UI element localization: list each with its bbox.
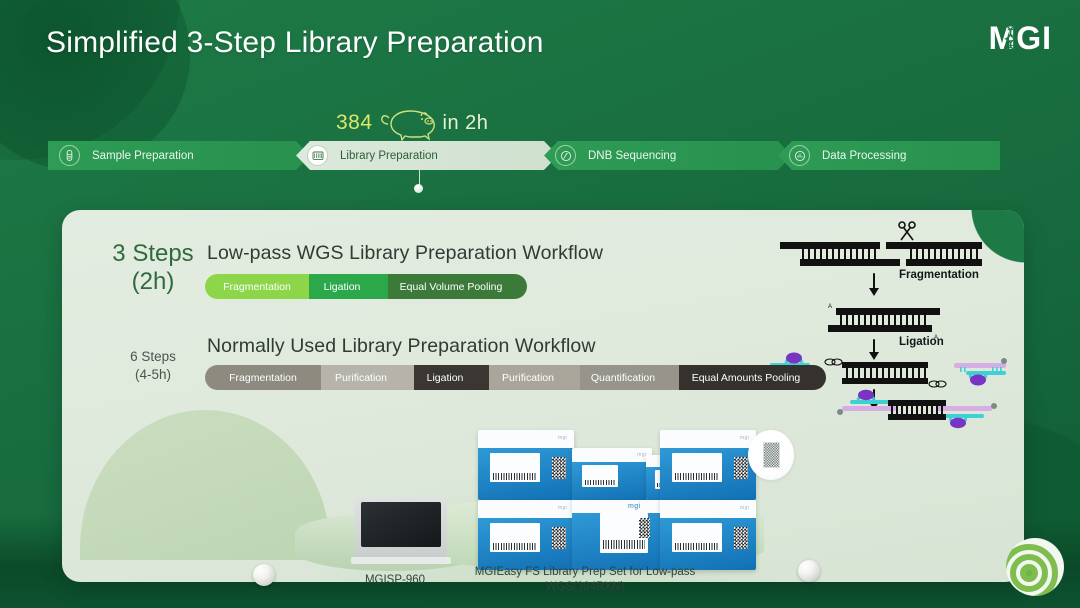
workflow-pill-label: Ligation xyxy=(324,281,361,293)
workflow-pill[interactable]: Ligation xyxy=(401,365,489,390)
fast-workflow-title: Low-pass WGS Library Preparation Workflo… xyxy=(207,242,603,265)
mgi-globe-decoration xyxy=(1002,534,1068,600)
down-arrow-icon-2 xyxy=(869,340,879,360)
normal-workflow-title: Normally Used Library Preparation Workfl… xyxy=(207,335,596,358)
workflow-pill[interactable]: Fragmentation xyxy=(205,365,321,390)
time-label: in 2h xyxy=(443,112,489,135)
sidebar-item-sample-preparation[interactable]: Sample Preparation xyxy=(48,141,310,170)
sidebar-item-data-processing[interactable]: Data Processing xyxy=(778,141,1000,170)
down-arrow-icon xyxy=(869,274,879,296)
diagram-label-fragmentation: Fragmentation xyxy=(899,269,979,281)
workflow-pill-label: Fragmentation xyxy=(223,281,291,293)
workflow-pill[interactable]: Quantification xyxy=(567,365,679,390)
instrument-icon xyxy=(355,497,447,559)
reagent-kit-box: mgi xyxy=(660,500,756,570)
sidebar-item-dnb-sequencing[interactable]: DNB Sequencing xyxy=(544,141,792,170)
workflow-pill[interactable]: Fragmentation xyxy=(205,274,309,299)
reagent-kit-box: mgi xyxy=(572,500,672,570)
fast-steps-count: 3 Steps (2h) xyxy=(89,240,217,297)
diagram-label-ligation: Ligation xyxy=(899,336,944,348)
workflow-pill-label: Equal Volume Pooling xyxy=(400,281,503,293)
fast-steps-duration: (2h) xyxy=(89,268,217,296)
microplate-icon xyxy=(307,145,328,166)
sample-count: 384 xyxy=(336,111,373,135)
workflow-pill-label: Purification xyxy=(502,372,554,384)
workflow-pill[interactable]: Purification xyxy=(476,365,580,390)
workflow-pill-label: Purification xyxy=(335,372,387,384)
step-label: Data Processing xyxy=(822,150,906,162)
sequencer-icon xyxy=(555,145,576,166)
step-label: DNB Sequencing xyxy=(588,150,676,162)
pearl-decoration-left xyxy=(253,564,275,586)
workflow-step-bar: Sample Preparation Library Preparation D… xyxy=(48,141,1014,170)
step-label: Sample Preparation xyxy=(92,150,194,162)
product-caption-kit: MGIEasy FS Library Prep Set for Low-pass… xyxy=(440,565,730,595)
reagent-kit-box: mgi xyxy=(572,448,652,500)
flowcell-chip-icon xyxy=(763,442,780,468)
workflow-pill[interactable]: Ligation xyxy=(296,274,388,299)
sidebar-item-library-preparation[interactable]: Library Preparation xyxy=(296,141,558,170)
flowcell-chip-badge xyxy=(748,430,794,480)
workflow-pill-label: Quantification xyxy=(591,372,655,384)
reagent-kit-box: mgi xyxy=(660,430,756,500)
scissors-icon xyxy=(899,222,915,240)
step-label: Library Preparation xyxy=(340,150,438,162)
page-title: Simplified 3-Step Library Preparation xyxy=(46,26,544,60)
fast-steps-count-value: 3 Steps xyxy=(89,240,217,268)
normal-steps-count: 6 Steps (4-5h) xyxy=(89,348,217,383)
workflow-pill-label: Ligation xyxy=(427,372,464,384)
product-hill-decoration xyxy=(80,410,330,560)
normal-steps-duration: (4-5h) xyxy=(89,366,217,384)
adapter-right-icon xyxy=(954,358,1007,386)
normal-steps-count-value: 6 Steps xyxy=(89,348,217,366)
workflow-pill[interactable]: Equal Amounts Pooling xyxy=(666,365,826,390)
dna-helix-icon xyxy=(1003,24,1018,50)
workflow-pill-label: Fragmentation xyxy=(229,372,297,384)
workflow-pill-label: Equal Amounts Pooling xyxy=(692,372,801,384)
pig-icon xyxy=(377,104,439,142)
normal-workflow-pills: FragmentationPurificationLigationPurific… xyxy=(205,365,826,390)
final-library-molecule-icon xyxy=(826,388,1006,434)
reagent-kit-box: mgi xyxy=(478,430,574,500)
annotation-connector-line xyxy=(419,170,420,185)
annotation-connector-dot xyxy=(414,184,423,193)
brand-name: MGI xyxy=(989,20,1052,57)
reagent-kit-box: mgi xyxy=(478,500,574,570)
pearl-decoration-right xyxy=(798,560,820,582)
data-chart-icon xyxy=(789,145,810,166)
mgi-logo: MGI xyxy=(989,20,1052,57)
throughput-annotation: 384 in 2h xyxy=(336,104,488,142)
workflow-pill[interactable]: Equal Volume Pooling xyxy=(375,274,527,299)
base-mark-a: A xyxy=(828,304,832,310)
workflow-pill[interactable]: Purification xyxy=(308,365,414,390)
fast-workflow-pills: FragmentationLigationEqual Volume Poolin… xyxy=(205,274,527,299)
test-tube-icon xyxy=(59,145,80,166)
